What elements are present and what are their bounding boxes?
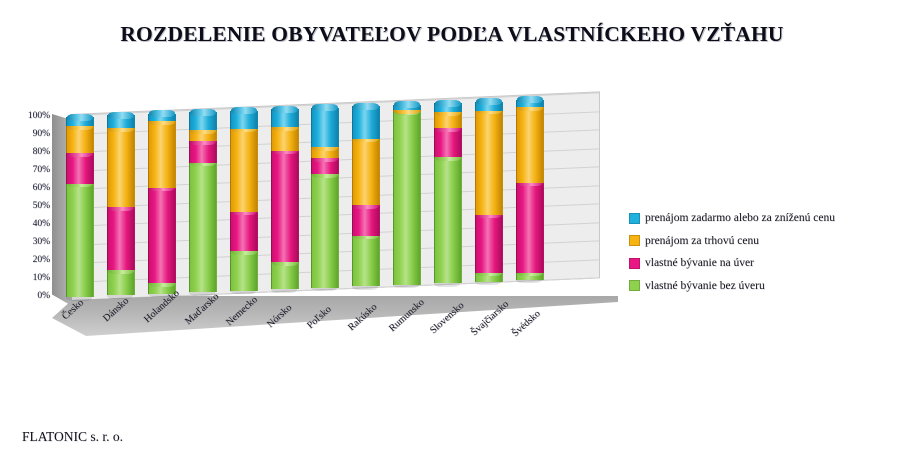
legend-item-label: vlastné bývanie na úver	[645, 257, 754, 269]
y-axis-tick-label: 20%	[33, 255, 50, 265]
bar-segment-magenta[interactable]	[352, 205, 380, 236]
bar-slovensko[interactable]	[434, 103, 460, 283]
bar-segment-cyan[interactable]	[66, 117, 94, 126]
bar-segment-cyan[interactable]	[107, 115, 135, 128]
y-axis-tick-label: 30%	[33, 237, 50, 247]
bar-rumunsko[interactable]	[393, 105, 419, 285]
bar-segment-orange[interactable]	[434, 112, 462, 128]
bar-nemecko[interactable]	[230, 111, 256, 291]
bar-po-sko[interactable]	[311, 108, 337, 288]
y-axis-tick-label: 0%	[37, 291, 50, 301]
bar-d-nsko[interactable]	[107, 115, 133, 295]
bar-segment-cyan[interactable]	[393, 105, 421, 110]
bar-segment-cyan[interactable]	[189, 112, 217, 130]
bar-segment-green[interactable]	[189, 163, 217, 293]
bar-rak-sko[interactable]	[352, 106, 378, 286]
bar-segment-cap	[517, 96, 543, 103]
bar-segment-magenta[interactable]	[66, 153, 94, 184]
legend-color-swatch	[629, 235, 640, 246]
bar-segment-cap	[312, 104, 338, 111]
legend-item[interactable]: prenájom zadarmo alebo za zníženú cenu	[629, 207, 897, 230]
bar-segment-cap	[272, 106, 298, 113]
bar-segment-magenta[interactable]	[271, 151, 299, 263]
y-axis-tick-label: 100%	[28, 111, 50, 121]
bar-segment-orange[interactable]	[66, 126, 94, 153]
chart-legend: prenájom zadarmo alebo za zníženú cenupr…	[629, 207, 897, 297]
bar-segment-cyan[interactable]	[271, 109, 299, 127]
bar-segment-cap	[149, 110, 175, 117]
bar-segment-cyan[interactable]	[516, 100, 544, 107]
legend-color-swatch	[629, 280, 640, 291]
bar-segment-cap	[67, 114, 93, 121]
y-axis-tick-label: 10%	[33, 273, 50, 283]
chart-page: ROZDELENIE OBYVATEĽOV PODĽA VLASTNÍCKEHO…	[0, 0, 904, 471]
bar-segment-cap	[108, 112, 134, 119]
legend-item[interactable]: prenájom za trhovú cenu	[629, 230, 897, 253]
bar-segment-green[interactable]	[475, 273, 503, 282]
y-axis-tick-label: 80%	[33, 147, 50, 157]
bar-segment-cap	[231, 107, 257, 114]
bar-segment-cap	[476, 98, 502, 105]
bar-segment-green[interactable]	[393, 112, 421, 285]
y-axis-tick-label: 50%	[33, 201, 50, 211]
legend-color-swatch	[629, 213, 640, 224]
y-axis: 100%90%80%70%60%50%40%30%20%10%0%	[10, 108, 50, 308]
bar-segment-orange[interactable]	[271, 127, 299, 150]
bar-segment-green[interactable]	[352, 236, 380, 286]
bar-segment-orange[interactable]	[148, 121, 176, 188]
bar-segment-orange[interactable]	[107, 128, 135, 207]
bar-segment-magenta[interactable]	[475, 215, 503, 273]
bar--esko[interactable]	[66, 117, 92, 297]
bar-segment-cap	[353, 103, 379, 110]
bar-segment-orange[interactable]	[311, 147, 339, 158]
y-axis-tick-label: 90%	[33, 129, 50, 139]
bar-segment-magenta[interactable]	[311, 158, 339, 174]
bar-segment-orange[interactable]	[230, 129, 258, 212]
page-title: ROZDELENIE OBYVATEĽOV PODĽA VLASTNÍCKEHO…	[0, 22, 904, 47]
bar-segment-magenta[interactable]	[148, 188, 176, 283]
bar-segment-green[interactable]	[271, 262, 299, 289]
bar-n-rsko[interactable]	[271, 109, 297, 289]
legend-item-label: prenájom zadarmo alebo za zníženú cenu	[645, 212, 835, 224]
y-axis-tick-label: 60%	[33, 183, 50, 193]
bar-segment-cap	[190, 109, 216, 116]
bar-segment-cyan[interactable]	[311, 108, 339, 148]
legend-color-swatch	[629, 258, 640, 269]
bar-segment-green[interactable]	[66, 184, 94, 297]
bar--vaj-iarsko[interactable]	[475, 102, 501, 282]
bar-segment-green[interactable]	[107, 270, 135, 295]
bar-segment-magenta[interactable]	[230, 212, 258, 252]
footer-text: FLATONIC s. r. o.	[22, 429, 123, 445]
legend-item-label: prenájom za trhovú cenu	[645, 235, 759, 247]
bar-segment-magenta[interactable]	[189, 141, 217, 163]
bar-segment-cyan[interactable]	[148, 114, 176, 121]
bar-segment-cyan[interactable]	[230, 111, 258, 129]
bar-segment-cap	[435, 100, 461, 107]
y-axis-tick-label: 70%	[33, 165, 50, 175]
bar-segment-cyan[interactable]	[434, 103, 462, 112]
y-axis-tick-label: 40%	[33, 219, 50, 229]
bar-segment-orange[interactable]	[352, 139, 380, 206]
bar-segment-magenta[interactable]	[107, 207, 135, 270]
bar-segment-orange[interactable]	[189, 130, 217, 141]
bar-segment-orange[interactable]	[516, 107, 544, 183]
bar-segment-cap	[394, 101, 420, 108]
bar-segment-magenta[interactable]	[516, 183, 544, 273]
bar-segment-cyan[interactable]	[475, 102, 503, 111]
bar-segment-orange[interactable]	[393, 110, 421, 112]
bar-segment-magenta[interactable]	[434, 128, 462, 157]
bar-ma-arsko[interactable]	[189, 112, 215, 292]
bar-segment-green[interactable]	[311, 174, 339, 287]
bar-segment-cyan[interactable]	[352, 106, 380, 138]
legend-item[interactable]: vlastné bývanie na úver	[629, 252, 897, 275]
bar-segment-green[interactable]	[516, 273, 544, 280]
bar-segment-orange[interactable]	[475, 111, 503, 215]
bar-segment-green[interactable]	[230, 251, 258, 291]
legend-item-label: vlastné bývanie bez úveru	[645, 280, 765, 292]
bar-segment-green[interactable]	[434, 157, 462, 283]
legend-item[interactable]: vlastné bývanie bez úveru	[629, 275, 897, 298]
bar--v-dsko[interactable]	[516, 100, 542, 280]
bar-holandsko[interactable]	[148, 114, 174, 294]
